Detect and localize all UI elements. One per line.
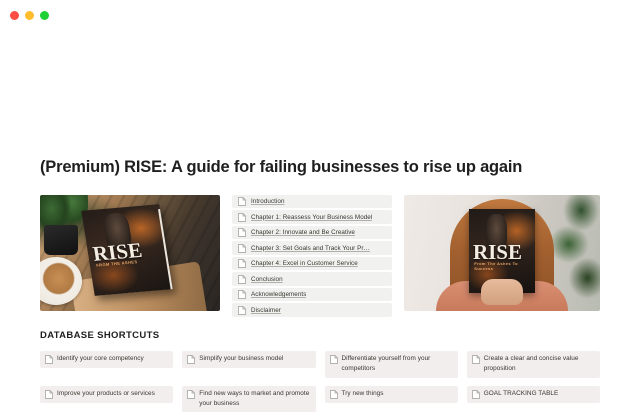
hero-left-column: RISE FROM THE ASHES	[40, 195, 220, 311]
database-page-icon	[472, 355, 480, 364]
page-icon	[238, 259, 246, 268]
database-shortcuts-grid: Identify your core competency Simplify y…	[40, 351, 600, 412]
page-icon	[238, 197, 246, 206]
database-page-icon	[187, 390, 195, 399]
toc-item-disclaimer[interactable]: Disclaimer	[232, 303, 392, 317]
toc-item-introduction[interactable]: Introduction	[232, 195, 392, 209]
database-shortcuts-heading: DATABASE SHORTCUTS	[40, 330, 600, 341]
minimize-window-button[interactable]	[25, 11, 34, 20]
shortcut-create-value-proposition[interactable]: Create a clear and concise value proposi…	[467, 351, 600, 378]
book-cover-subtitle: From The Ashes To Success	[474, 261, 535, 271]
toc-item-label: Chapter 2: Innovate and Be Creative	[251, 229, 355, 236]
hero-columns: RISE FROM THE ASHES Introduction	[40, 195, 600, 317]
page-icon	[238, 306, 246, 315]
toc-item-label: Acknowledgements	[251, 291, 306, 298]
shortcut-label: Find new ways to market and promote your…	[199, 389, 310, 409]
toc-item-acknowledgements[interactable]: Acknowledgements	[232, 288, 392, 302]
toc-item-label: Introduction	[251, 198, 285, 205]
toc-item-conclusion[interactable]: Conclusion	[232, 272, 392, 286]
shortcut-label: GOAL TRACKING TABLE	[484, 389, 559, 399]
database-page-icon	[472, 390, 480, 399]
hero-right-column: RISE From The Ashes To Success	[404, 195, 600, 311]
shortcut-identify-core-competency[interactable]: Identify your core competency	[40, 351, 173, 368]
toc-item-chapter-1[interactable]: Chapter 1: Reassess Your Business Model	[232, 210, 392, 224]
page-icon	[238, 213, 246, 222]
book-on-table-photo: RISE FROM THE ASHES	[40, 195, 220, 311]
toc-item-chapter-4[interactable]: Chapter 4: Excel in Customer Service	[232, 257, 392, 271]
shortcut-label: Identify your core competency	[57, 354, 144, 364]
shortcut-label: Improve your products or services	[57, 389, 155, 399]
shortcut-simplify-business-model[interactable]: Simplify your business model	[182, 351, 315, 368]
table-of-contents: Introduction Chapter 1: Reassess Your Bu…	[232, 195, 392, 317]
zoom-window-button[interactable]	[40, 11, 49, 20]
traffic-light-group	[10, 11, 49, 20]
shortcut-differentiate-from-competitors[interactable]: Differentiate yourself from your competi…	[325, 351, 458, 378]
person-hand	[481, 279, 523, 305]
page-icon	[238, 275, 246, 284]
shortcut-label: Simplify your business model	[199, 354, 283, 364]
page-icon	[238, 290, 246, 299]
database-page-icon	[45, 390, 53, 399]
document-page: (Premium) RISE: A guide for failing busi…	[0, 30, 640, 412]
page-title: (Premium) RISE: A guide for failing busi…	[40, 30, 600, 178]
shortcut-label: Differentiate yourself from your competi…	[342, 354, 453, 374]
window-titlebar	[0, 0, 640, 30]
plant-pot	[44, 225, 78, 255]
toc-item-chapter-2[interactable]: Chapter 2: Innovate and Be Creative	[232, 226, 392, 240]
shortcut-label: Create a clear and concise value proposi…	[484, 354, 595, 374]
toc-item-label: Conclusion	[251, 276, 283, 283]
toc-list: Introduction Chapter 1: Reassess Your Bu…	[232, 195, 392, 317]
toc-item-label: Chapter 1: Reassess Your Business Model	[251, 214, 372, 221]
page-icon	[238, 244, 246, 253]
toc-item-chapter-3[interactable]: Chapter 3: Set Goals and Track Your Pr…	[232, 241, 392, 255]
shortcut-goal-tracking-table[interactable]: GOAL TRACKING TABLE	[467, 386, 600, 403]
book-cover-left: RISE FROM THE ASHES	[81, 204, 172, 296]
database-page-icon	[330, 390, 338, 399]
shortcut-find-new-ways-to-market[interactable]: Find new ways to market and promote your…	[182, 386, 315, 412]
shortcut-try-new-things[interactable]: Try new things	[325, 386, 458, 403]
database-page-icon	[330, 355, 338, 364]
database-page-icon	[187, 355, 195, 364]
person-holding-book-photo: RISE From The Ashes To Success	[404, 195, 600, 311]
toc-item-label: Chapter 4: Excel in Customer Service	[251, 260, 358, 267]
shortcut-label: Try new things	[342, 389, 384, 399]
close-window-button[interactable]	[10, 11, 19, 20]
toc-item-label: Disclaimer	[251, 307, 281, 314]
database-page-icon	[45, 355, 53, 364]
shortcut-improve-products-or-services[interactable]: Improve your products or services	[40, 386, 173, 403]
toc-item-label: Chapter 3: Set Goals and Track Your Pr…	[251, 245, 370, 252]
page-icon	[238, 228, 246, 237]
